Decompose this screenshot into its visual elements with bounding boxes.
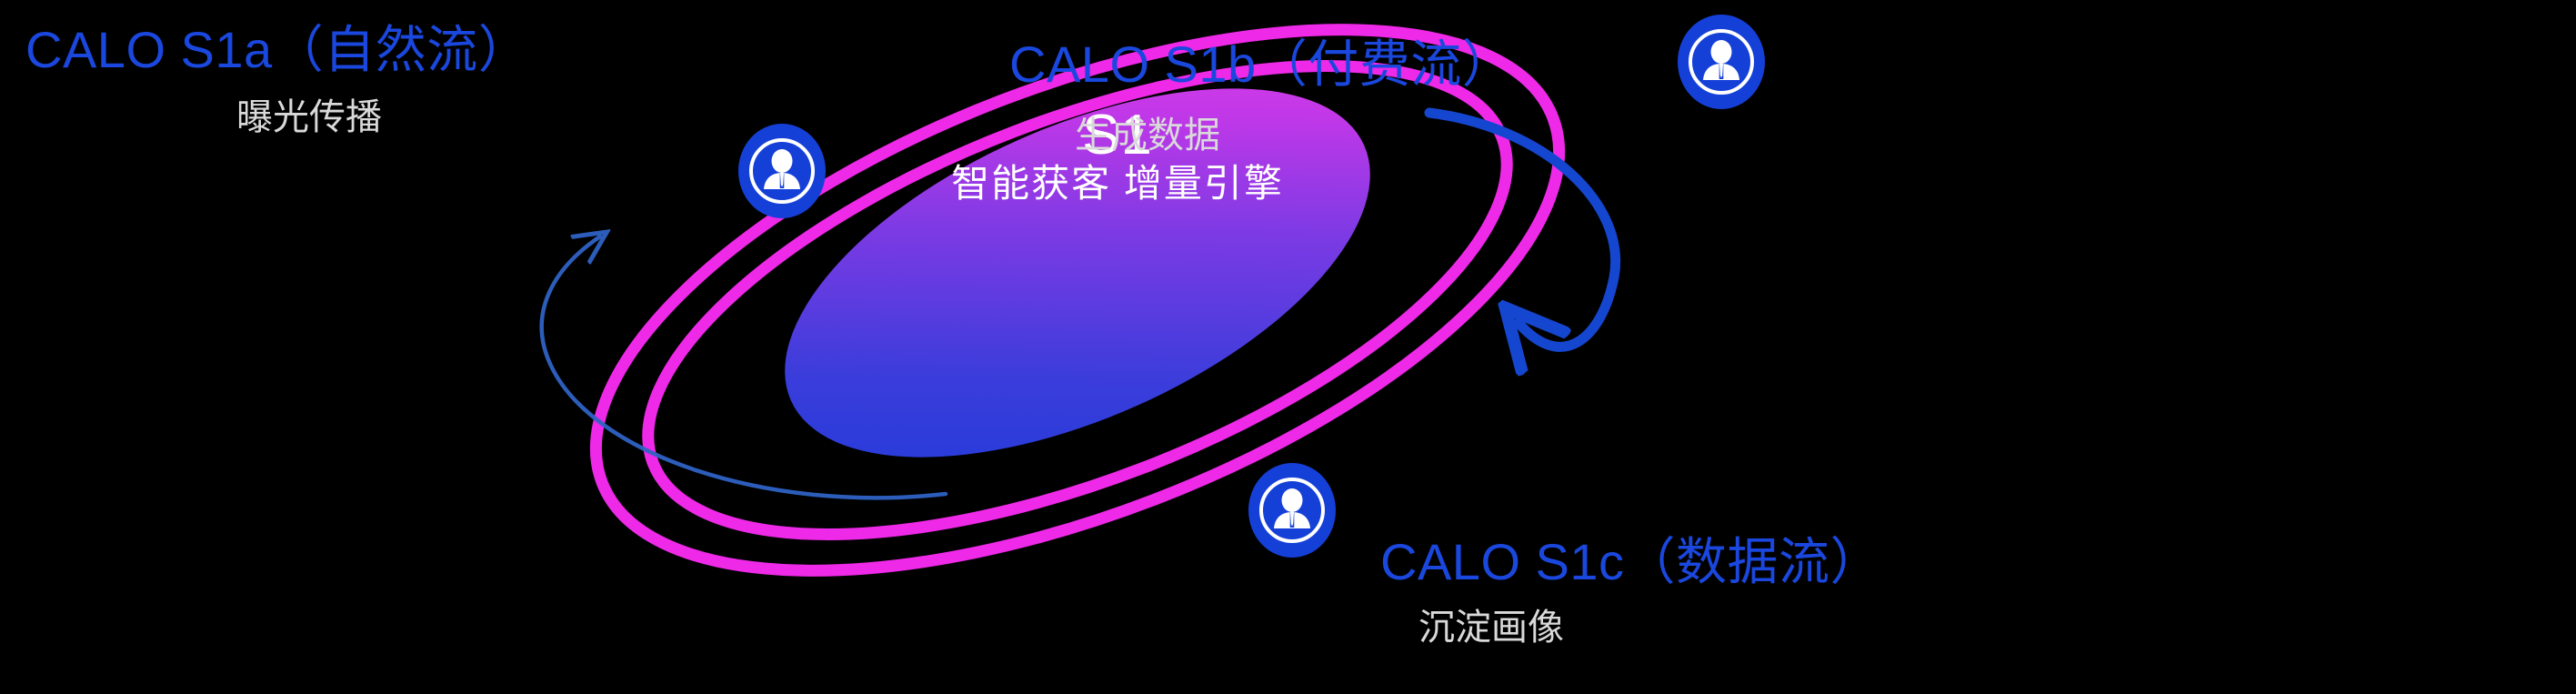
node-label-s1c: CALO S1c（数据流） 沉淀画像: [1380, 532, 1881, 649]
node-badge-s1b[interactable]: [1678, 15, 1765, 109]
node-title-s1b: CALO S1b（付费流）: [1009, 35, 1513, 95]
node-subtitle-s1a: 曝光传播: [236, 96, 529, 139]
node-label-s1b: CALO S1b（付费流） 生成数据: [1009, 35, 1513, 157]
node-subtitle-s1c: 沉淀画像: [1418, 607, 1881, 649]
node-subtitle-s1b: 生成数据: [1075, 115, 1513, 157]
node-title-s1c: CALO S1c（数据流）: [1380, 532, 1881, 592]
diagram-canvas: S1 智能获客 增量引擎 CALO S1a（自然流） 曝光传播 CALO S1b…: [0, 0, 2576, 694]
node-label-s1a: CALO S1a（自然流） 曝光传播: [25, 20, 529, 139]
node-badge-s1c[interactable]: [1248, 463, 1336, 558]
node-badge-s1a[interactable]: [738, 124, 826, 218]
node-title-s1a: CALO S1a（自然流）: [25, 20, 529, 80]
